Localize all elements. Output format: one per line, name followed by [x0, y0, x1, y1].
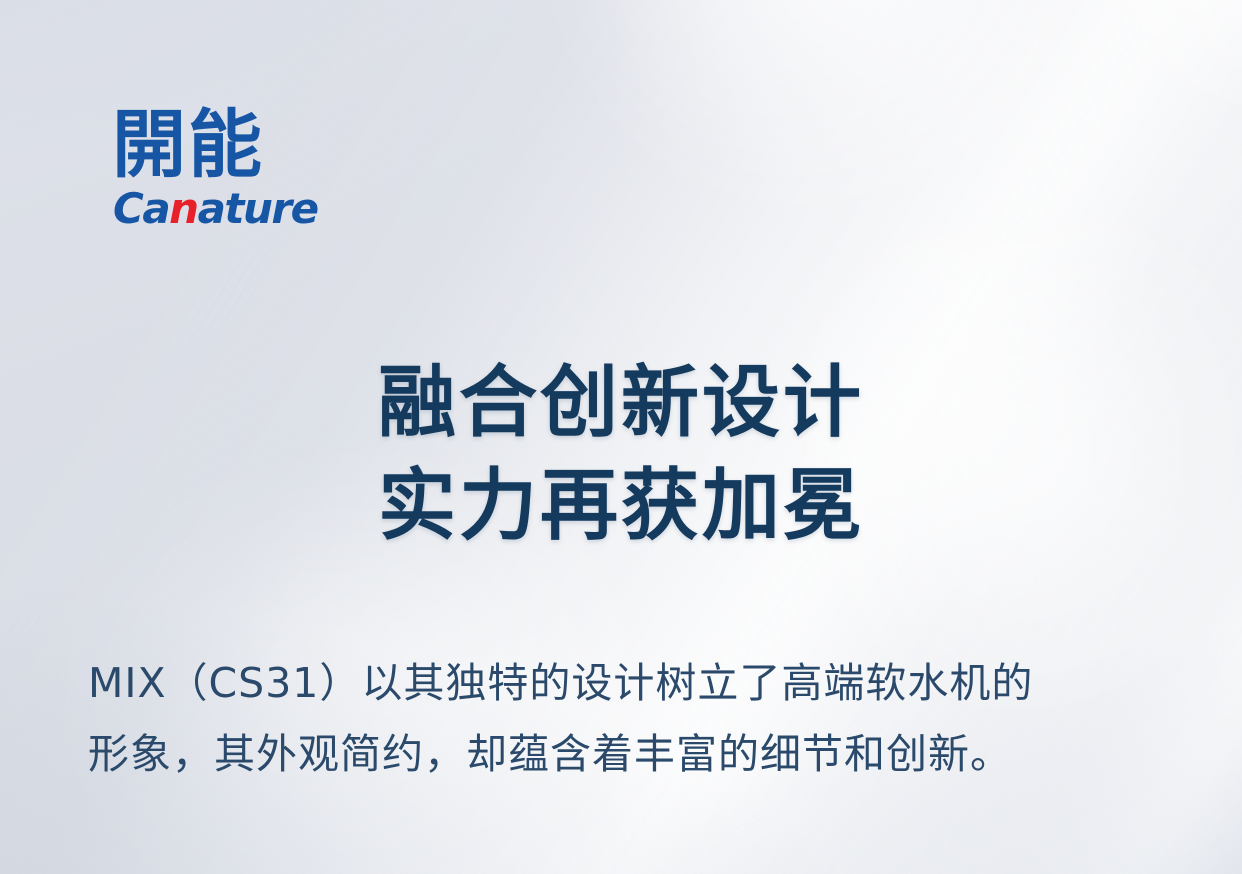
light-glow-upper-right	[1038, 0, 1242, 127]
brand-logo-latin: Canature	[113, 188, 318, 230]
headline-block: 融合创新设计 实力再获加冕	[0, 352, 1242, 558]
headline-line-1: 融合创新设计	[0, 352, 1242, 455]
brand-logo-latin-suffix: ature	[198, 184, 318, 233]
poster-canvas: 開能 Canature 融合创新设计 实力再获加冕 MIX（CS31）以其独特的…	[0, 0, 1242, 874]
body-copy-line-2: 形象，其外观简约，却蕴含着丰富的细节和创新。	[88, 719, 1158, 790]
light-glow-top-center	[551, 0, 1111, 225]
body-copy-block: MIX（CS31）以其独特的设计树立了高端软水机的 形象，其外观简约，却蕴含着丰…	[88, 648, 1158, 789]
headline-line-2: 实力再获加冕	[0, 455, 1242, 558]
body-copy-line-1: MIX（CS31）以其独特的设计树立了高端软水机的	[88, 648, 1158, 719]
brand-logo-latin-accent: n	[169, 184, 197, 233]
brand-logo: 開能 Canature	[112, 108, 318, 230]
brand-logo-chinese: 開能	[112, 108, 318, 182]
brand-logo-latin-prefix: Ca	[113, 184, 169, 233]
